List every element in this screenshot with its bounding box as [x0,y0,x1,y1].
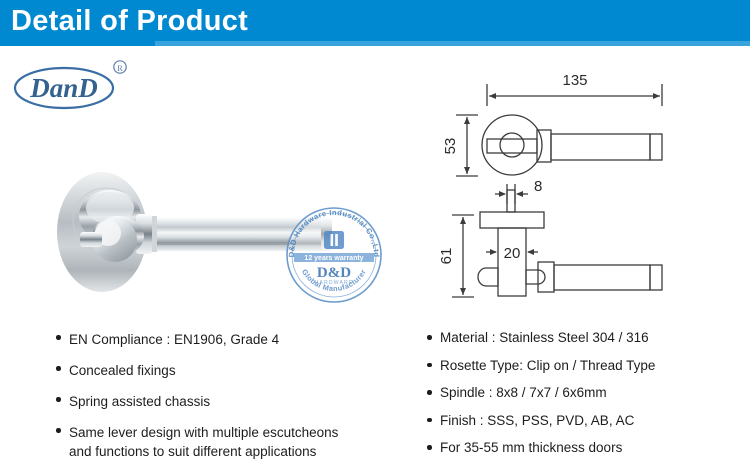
spec-item: Spindle : 8x8 / 7x7 / 6x6mm [427,385,747,400]
spec-item: For 35-55 mm thickness doors [427,440,747,455]
spec-item: Rosette Type: Clip on / Thread Type [427,358,747,373]
drawing-lever-tip-top [650,134,662,160]
dim-label-53: 53 [442,138,459,155]
logo-text: DanD [29,73,98,103]
header-banner: Detail of Product [0,0,750,46]
spec-item: Finish : SSS, PSS, PVD, AB, AC [427,413,747,428]
spec-list-right: Material : Stainless Steel 304 / 316 Ros… [427,330,747,468]
spec-item: Material : Stainless Steel 304 / 316 [427,330,747,345]
spec-item: Concealed fixings [56,361,406,380]
watermark-seal: D&D Hardware Industrial Co.,Ltd 12 years… [282,203,386,307]
dim-height-53 [456,115,478,176]
dim-height-61 [452,215,474,297]
drawing-joint-side [526,270,545,284]
seal-brand-text: D&D [317,265,351,281]
seal-banner-text: 12 years warranty [304,255,363,262]
drawing-lever-top [551,134,650,160]
dim-label-8: 8 [534,178,542,195]
handle-chrome-band [80,232,102,247]
spec-list-left: EN Compliance : EN1906, Grade 4 Conceale… [56,330,406,473]
brand-logo: DanD R [12,57,137,113]
dim-label-135: 135 [562,72,587,89]
page-title: Detail of Product [11,4,248,38]
dim-label-61: 61 [440,248,455,265]
handle-lever-collar-2 [152,216,157,252]
tech-drawing: 135 53 8 20 61 [440,72,690,312]
spec-item: Same lever design with multiple escutche… [56,423,406,461]
drawing-rosette-side [480,212,544,228]
registered-trademark-icon: R [114,61,126,73]
dim-label-20: 20 [504,245,521,262]
spec-item: EN Compliance : EN1906, Grade 4 [56,330,406,349]
header-banner-stripe [155,41,750,46]
dim-spindle-8 [495,184,528,204]
spec-item: Spring assisted chassis [56,392,406,411]
drawing-body-side [498,228,526,296]
drawing-lever-side [554,265,650,290]
drawing-rosette-top [482,115,542,175]
drawing-collar-side [538,262,554,292]
svg-text:R: R [117,63,123,73]
drawing-neck-top [487,139,537,153]
drawing-spindle [507,190,515,212]
drawing-knob-side [478,268,498,286]
drawing-lever-tip-side [650,265,662,290]
seal-emblem-icon [324,231,344,249]
